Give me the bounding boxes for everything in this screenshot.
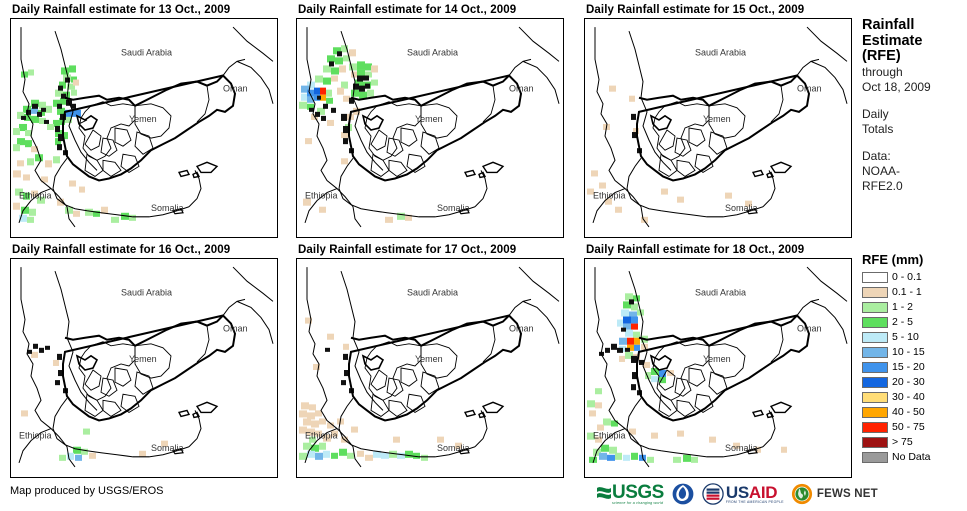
legend-label: 1 - 2 — [892, 302, 913, 313]
legend-swatch — [862, 377, 888, 388]
usaid-tagline: FROM THE AMERICAN PEOPLE — [726, 500, 784, 504]
usgs-tagline: science for a changing world — [612, 501, 664, 505]
legend-item[interactable]: 1 - 2 — [862, 300, 966, 315]
usgs-label: USGS — [612, 484, 664, 501]
rainfall-map: Saudi Arabia Oman Yemen Ethiopia Somalia — [11, 259, 277, 477]
legend-item[interactable]: 40 - 50 — [862, 405, 966, 420]
legend-title: RFE (mm) — [862, 252, 966, 267]
legend-swatch — [862, 392, 888, 403]
usgs-logo[interactable]: USGS science for a changing world — [596, 481, 664, 507]
map-frame[interactable]: Saudi Arabia Oman Yemen Ethiopia Somalia — [296, 18, 564, 238]
legend-label: 10 - 15 — [892, 347, 925, 358]
map-panel-16-oct: Daily Rainfall estimate for 16 Oct., 200… — [10, 242, 278, 476]
usgs-wave-icon — [596, 484, 612, 504]
panel-title: Daily Rainfall estimate for 13 Oct., 200… — [10, 2, 278, 18]
legend-swatch — [862, 422, 888, 433]
noaa-seal-icon — [671, 482, 695, 506]
svg-text:Oman: Oman — [797, 84, 821, 94]
legend-label: 50 - 75 — [892, 422, 925, 433]
legend-item[interactable]: 0 - 0.1 — [862, 270, 966, 285]
svg-text:Somalia: Somalia — [437, 443, 470, 453]
svg-text:Saudi Arabia: Saudi Arabia — [695, 287, 747, 297]
svg-text:Somalia: Somalia — [437, 203, 470, 213]
title-line-3: (RFE) — [862, 49, 966, 65]
map-frame[interactable]: Saudi Arabia Oman Yemen Ethiopia Somalia — [296, 258, 564, 478]
spacer — [862, 137, 966, 149]
map-frame[interactable]: Saudi Arabia Oman Yemen Ethiopia Somalia — [584, 258, 852, 478]
rain-cells — [21, 352, 168, 461]
rainfall-map: Saudi Arabia Oman Yemen Ethiopia Somalia — [585, 259, 851, 477]
map-credit: Map produced by USGS/EROS — [10, 485, 163, 497]
usaid-logo[interactable]: USAID FROM THE AMERICAN PEOPLE — [702, 481, 784, 507]
spacer — [862, 95, 966, 107]
map-frame[interactable]: Saudi Arabia Oman Yemen Ethiopia Somalia — [10, 258, 278, 478]
svg-text:Yemen: Yemen — [129, 114, 157, 124]
svg-text:Somalia: Somalia — [725, 443, 758, 453]
legend-label: No Data — [892, 452, 931, 463]
map-panel-13-oct: Daily Rainfall estimate for 13 Oct., 200… — [10, 2, 278, 236]
title-block: Rainfall Estimate (RFE) through Oct 18, … — [862, 18, 966, 194]
legend-label: 5 - 10 — [892, 332, 919, 343]
svg-text:Saudi Arabia: Saudi Arabia — [407, 47, 459, 57]
svg-text:Saudi Arabia: Saudi Arabia — [407, 287, 459, 297]
legend-item[interactable]: 30 - 40 — [862, 390, 966, 405]
title-line-1: Rainfall — [862, 18, 966, 34]
svg-text:Oman: Oman — [223, 324, 247, 334]
map-panel-14-oct: Daily Rainfall estimate for 14 Oct., 200… — [296, 2, 564, 236]
svg-text:Ethiopia: Ethiopia — [593, 431, 626, 441]
svg-text:Yemen: Yemen — [415, 114, 443, 124]
panel-title: Daily Rainfall estimate for 17 Oct., 200… — [296, 242, 564, 258]
dark-cells — [27, 344, 68, 393]
legend-label: 0.1 - 1 — [892, 287, 922, 298]
svg-text:Somalia: Somalia — [725, 203, 758, 213]
legend-swatch — [862, 347, 888, 358]
legend-label: 20 - 30 — [892, 377, 925, 388]
map-panel-15-oct: Daily Rainfall estimate for 15 Oct., 200… — [584, 2, 852, 236]
svg-text:Somalia: Somalia — [151, 203, 184, 213]
map-panel-18-oct: Daily Rainfall estimate for 18 Oct., 200… — [584, 242, 852, 476]
legend-label: 0 - 0.1 — [892, 272, 922, 283]
legend-swatch — [862, 287, 888, 298]
legend-item[interactable]: 10 - 15 — [862, 345, 966, 360]
title-daily: Daily — [862, 107, 966, 122]
svg-text:Oman: Oman — [223, 84, 247, 94]
title-totals: Totals — [862, 122, 966, 137]
title-line-2: Estimate — [862, 34, 966, 50]
fewsnet-label: FEWS NET — [817, 488, 878, 500]
title-through: through — [862, 65, 966, 80]
svg-text:Somalia: Somalia — [151, 443, 184, 453]
legend-label: 30 - 40 — [892, 392, 925, 403]
legend-label: 15 - 20 — [892, 362, 925, 373]
title-data-source-2: RFE2.0 — [862, 179, 966, 194]
svg-text:Ethiopia: Ethiopia — [19, 191, 52, 201]
map-frame[interactable]: Saudi Arabia Oman Yemen Ethiopia Somalia — [584, 18, 852, 238]
legend-item[interactable]: 2 - 5 — [862, 315, 966, 330]
rfe-map-page: Daily Rainfall estimate for 13 Oct., 200… — [0, 0, 967, 511]
fewsnet-globe-icon — [791, 483, 813, 505]
legend-item[interactable]: 5 - 10 — [862, 330, 966, 345]
rainfall-map: Saudi Arabia Oman Yemen Ethiopia Somalia — [297, 19, 563, 237]
legend-swatch — [862, 272, 888, 283]
panel-title: Daily Rainfall estimate for 15 Oct., 200… — [584, 2, 852, 18]
panel-title: Daily Rainfall estimate for 18 Oct., 200… — [584, 242, 852, 258]
legend-swatch — [862, 317, 888, 328]
usaid-label: USAID — [726, 485, 784, 500]
legend-item[interactable]: 20 - 30 — [862, 375, 966, 390]
legend-swatch — [862, 407, 888, 418]
rainfall-map: Saudi Arabia Oman Yemen Ethiopia Somalia — [11, 19, 277, 237]
map-panel-17-oct: Daily Rainfall estimate for 17 Oct., 200… — [296, 242, 564, 476]
legend-swatch — [862, 302, 888, 313]
rainfall-map: Saudi Arabia Oman Yemen Ethiopia Somalia — [297, 259, 563, 477]
legend-item[interactable]: 15 - 20 — [862, 360, 966, 375]
legend-item[interactable]: 0.1 - 1 — [862, 285, 966, 300]
svg-text:Oman: Oman — [509, 324, 533, 334]
noaa-logo[interactable] — [671, 481, 695, 507]
svg-text:Oman: Oman — [509, 84, 533, 94]
svg-text:Oman: Oman — [797, 324, 821, 334]
title-data-label: Data: — [862, 149, 966, 164]
title-data-source-1: NOAA- — [862, 164, 966, 179]
fewsnet-logo[interactable]: FEWS NET — [791, 481, 878, 507]
svg-text:Yemen: Yemen — [129, 354, 157, 364]
legend-item[interactable]: 50 - 75 — [862, 420, 966, 435]
legend-swatch — [862, 332, 888, 343]
legend-swatch — [862, 452, 888, 463]
panel-title: Daily Rainfall estimate for 16 Oct., 200… — [10, 242, 278, 258]
rainfall-map: Saudi Arabia Oman Yemen Ethiopia Somalia — [585, 19, 851, 237]
map-frame[interactable]: Saudi Arabia Oman Yemen Ethiopia Somalia — [10, 18, 278, 238]
svg-text:Yemen: Yemen — [415, 354, 443, 364]
svg-text:Yemen: Yemen — [703, 354, 731, 364]
svg-text:Yemen: Yemen — [703, 114, 731, 124]
legend-item[interactable]: > 75 — [862, 435, 966, 450]
svg-text:Saudi Arabia: Saudi Arabia — [695, 47, 747, 57]
svg-text:Ethiopia: Ethiopia — [593, 191, 626, 201]
legend-item[interactable]: No Data — [862, 450, 966, 465]
svg-text:Ethiopia: Ethiopia — [305, 431, 338, 441]
title-through-date: Oct 18, 2009 — [862, 80, 966, 95]
svg-text:Ethiopia: Ethiopia — [305, 191, 338, 201]
legend-label: 2 - 5 — [892, 317, 913, 328]
usaid-seal-icon — [702, 483, 724, 505]
svg-text:Saudi Arabia: Saudi Arabia — [121, 287, 173, 297]
legend-swatch — [862, 362, 888, 373]
legend-label: > 75 — [892, 437, 913, 448]
legend-swatch — [862, 437, 888, 448]
rfe-legend: RFE (mm) 0 - 0.1 0.1 - 1 1 - 2 2 - 5 5 -… — [862, 252, 966, 465]
panel-title: Daily Rainfall estimate for 14 Oct., 200… — [296, 2, 564, 18]
svg-text:Ethiopia: Ethiopia — [19, 431, 52, 441]
agency-logos: USGS science for a changing world USAID — [596, 480, 878, 508]
legend-label: 40 - 50 — [892, 407, 925, 418]
svg-text:Saudi Arabia: Saudi Arabia — [121, 47, 173, 57]
